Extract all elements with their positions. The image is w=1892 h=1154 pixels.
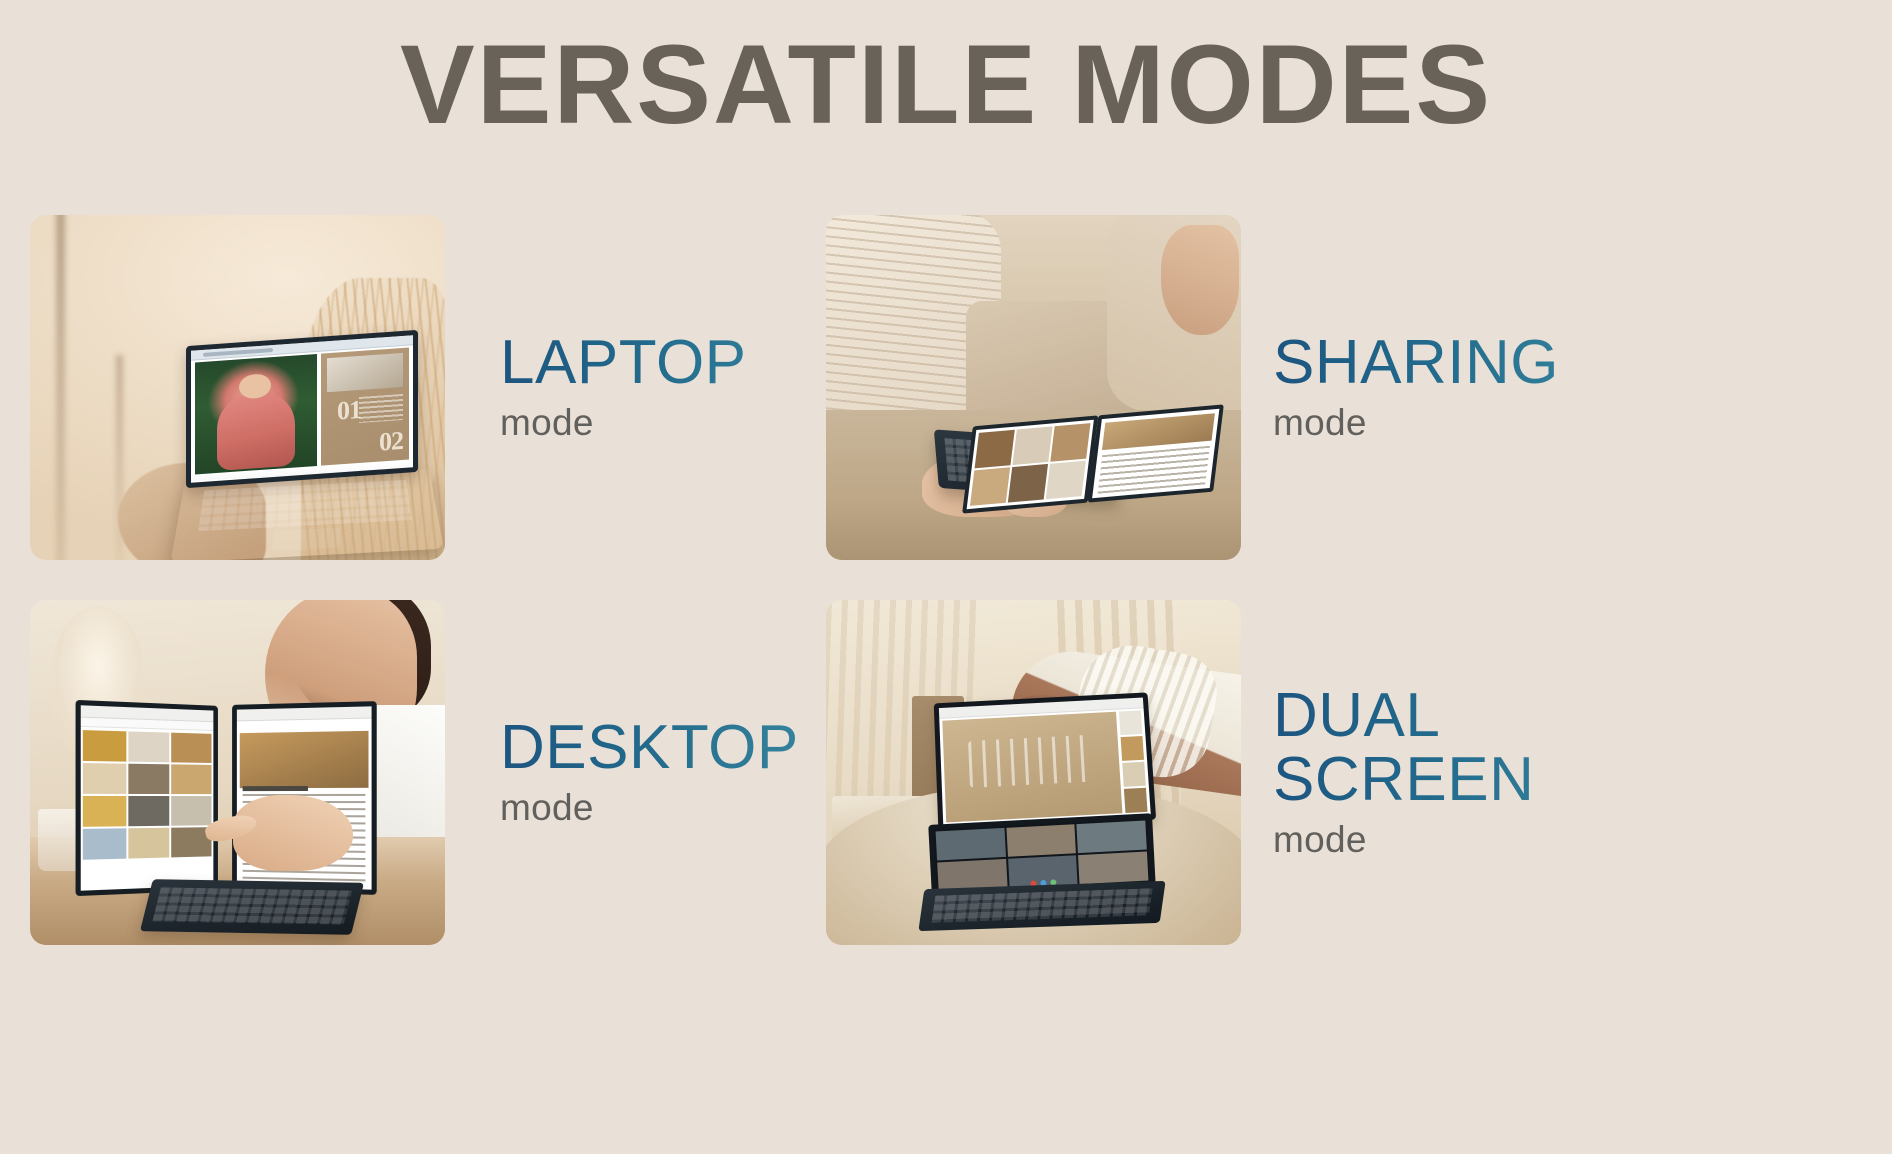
detached-keyboard bbox=[140, 879, 364, 935]
mode-image-laptop: 01 02 bbox=[30, 215, 445, 560]
laptop-base bbox=[170, 468, 443, 560]
mode-labels-desktop: DESKTOP mode bbox=[445, 716, 820, 829]
mode-name-desktop: DESKTOP bbox=[500, 716, 820, 779]
mode-name-dual-screen: DUAL SCREEN bbox=[1273, 684, 1616, 810]
editorial-number-two: 02 bbox=[379, 426, 403, 458]
mode-sub-sharing: mode bbox=[1273, 402, 1616, 444]
laptop-screen: 01 02 bbox=[191, 335, 413, 483]
screen-fashion-photo bbox=[195, 354, 317, 475]
screen-product-page bbox=[942, 712, 1122, 823]
mode-labels-dual-screen: DUAL SCREEN mode bbox=[1241, 684, 1616, 860]
screen-text-lines bbox=[1098, 446, 1210, 494]
screen-hero-image bbox=[1102, 413, 1215, 449]
mode-labels-laptop: LAPTOP mode bbox=[445, 331, 820, 444]
mode-sub-laptop: mode bbox=[500, 402, 820, 444]
mode-cell-sharing[interactable]: SHARING mode bbox=[826, 210, 1616, 565]
editorial-text-lines bbox=[359, 394, 403, 423]
dual-screen-device-upright bbox=[76, 703, 376, 893]
detached-keyboard bbox=[918, 881, 1165, 931]
versatile-modes-page: VERSATILE MODES 01 bbox=[0, 0, 1892, 1154]
mode-sub-dual-screen: mode bbox=[1273, 819, 1616, 861]
mode-image-sharing bbox=[826, 215, 1241, 560]
screen-hero-image bbox=[240, 731, 369, 788]
mode-image-desktop bbox=[30, 600, 445, 945]
device-screen-left bbox=[962, 415, 1098, 513]
modes-grid: 01 02 LAPTOP mode bbox=[0, 205, 1892, 1154]
editorial-number-one: 01 bbox=[337, 395, 361, 427]
device-screen-right bbox=[1088, 404, 1224, 502]
screen-gallery-grid bbox=[83, 730, 212, 889]
arm-right-shape bbox=[1161, 225, 1239, 335]
screen-thumbnail-rail bbox=[1119, 710, 1148, 813]
laptop-lid: 01 02 bbox=[186, 330, 418, 488]
dual-screen-device-folded bbox=[922, 697, 1162, 927]
device-screen-top bbox=[934, 692, 1156, 831]
mode-cell-dual-screen[interactable]: DUAL SCREEN mode bbox=[826, 595, 1616, 950]
page-title: VERSATILE MODES bbox=[0, 26, 1892, 144]
laptop-device: 01 02 bbox=[178, 338, 436, 556]
editorial-thumb bbox=[327, 353, 403, 392]
laptop-keyboard bbox=[198, 480, 412, 531]
mode-name-sharing: SHARING bbox=[1273, 331, 1616, 394]
mode-labels-sharing: SHARING mode bbox=[1241, 331, 1616, 444]
mode-cell-laptop[interactable]: 01 02 LAPTOP mode bbox=[30, 210, 820, 565]
mode-sub-desktop: mode bbox=[500, 787, 820, 829]
mode-name-laptop: LAPTOP bbox=[500, 331, 820, 394]
mode-image-dual-screen bbox=[826, 600, 1241, 945]
screen-image-grid bbox=[970, 423, 1091, 506]
screen-editorial-page: 01 02 bbox=[321, 348, 409, 466]
device-screen-left bbox=[76, 700, 218, 896]
mode-cell-desktop[interactable]: DESKTOP mode bbox=[30, 595, 820, 950]
browser-topbar bbox=[237, 706, 372, 721]
laptop-trackpad bbox=[272, 528, 341, 552]
hand-shape bbox=[233, 795, 353, 871]
